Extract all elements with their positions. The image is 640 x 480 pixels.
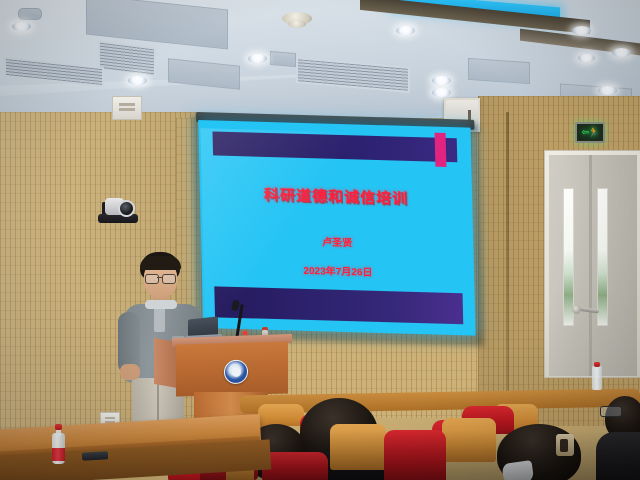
photo-vignette (0, 0, 640, 480)
lecture-hall-photo: ⇦🏃 科研道德和诚信培训 卢圣贤 2023年7月26日 (0, 0, 640, 480)
